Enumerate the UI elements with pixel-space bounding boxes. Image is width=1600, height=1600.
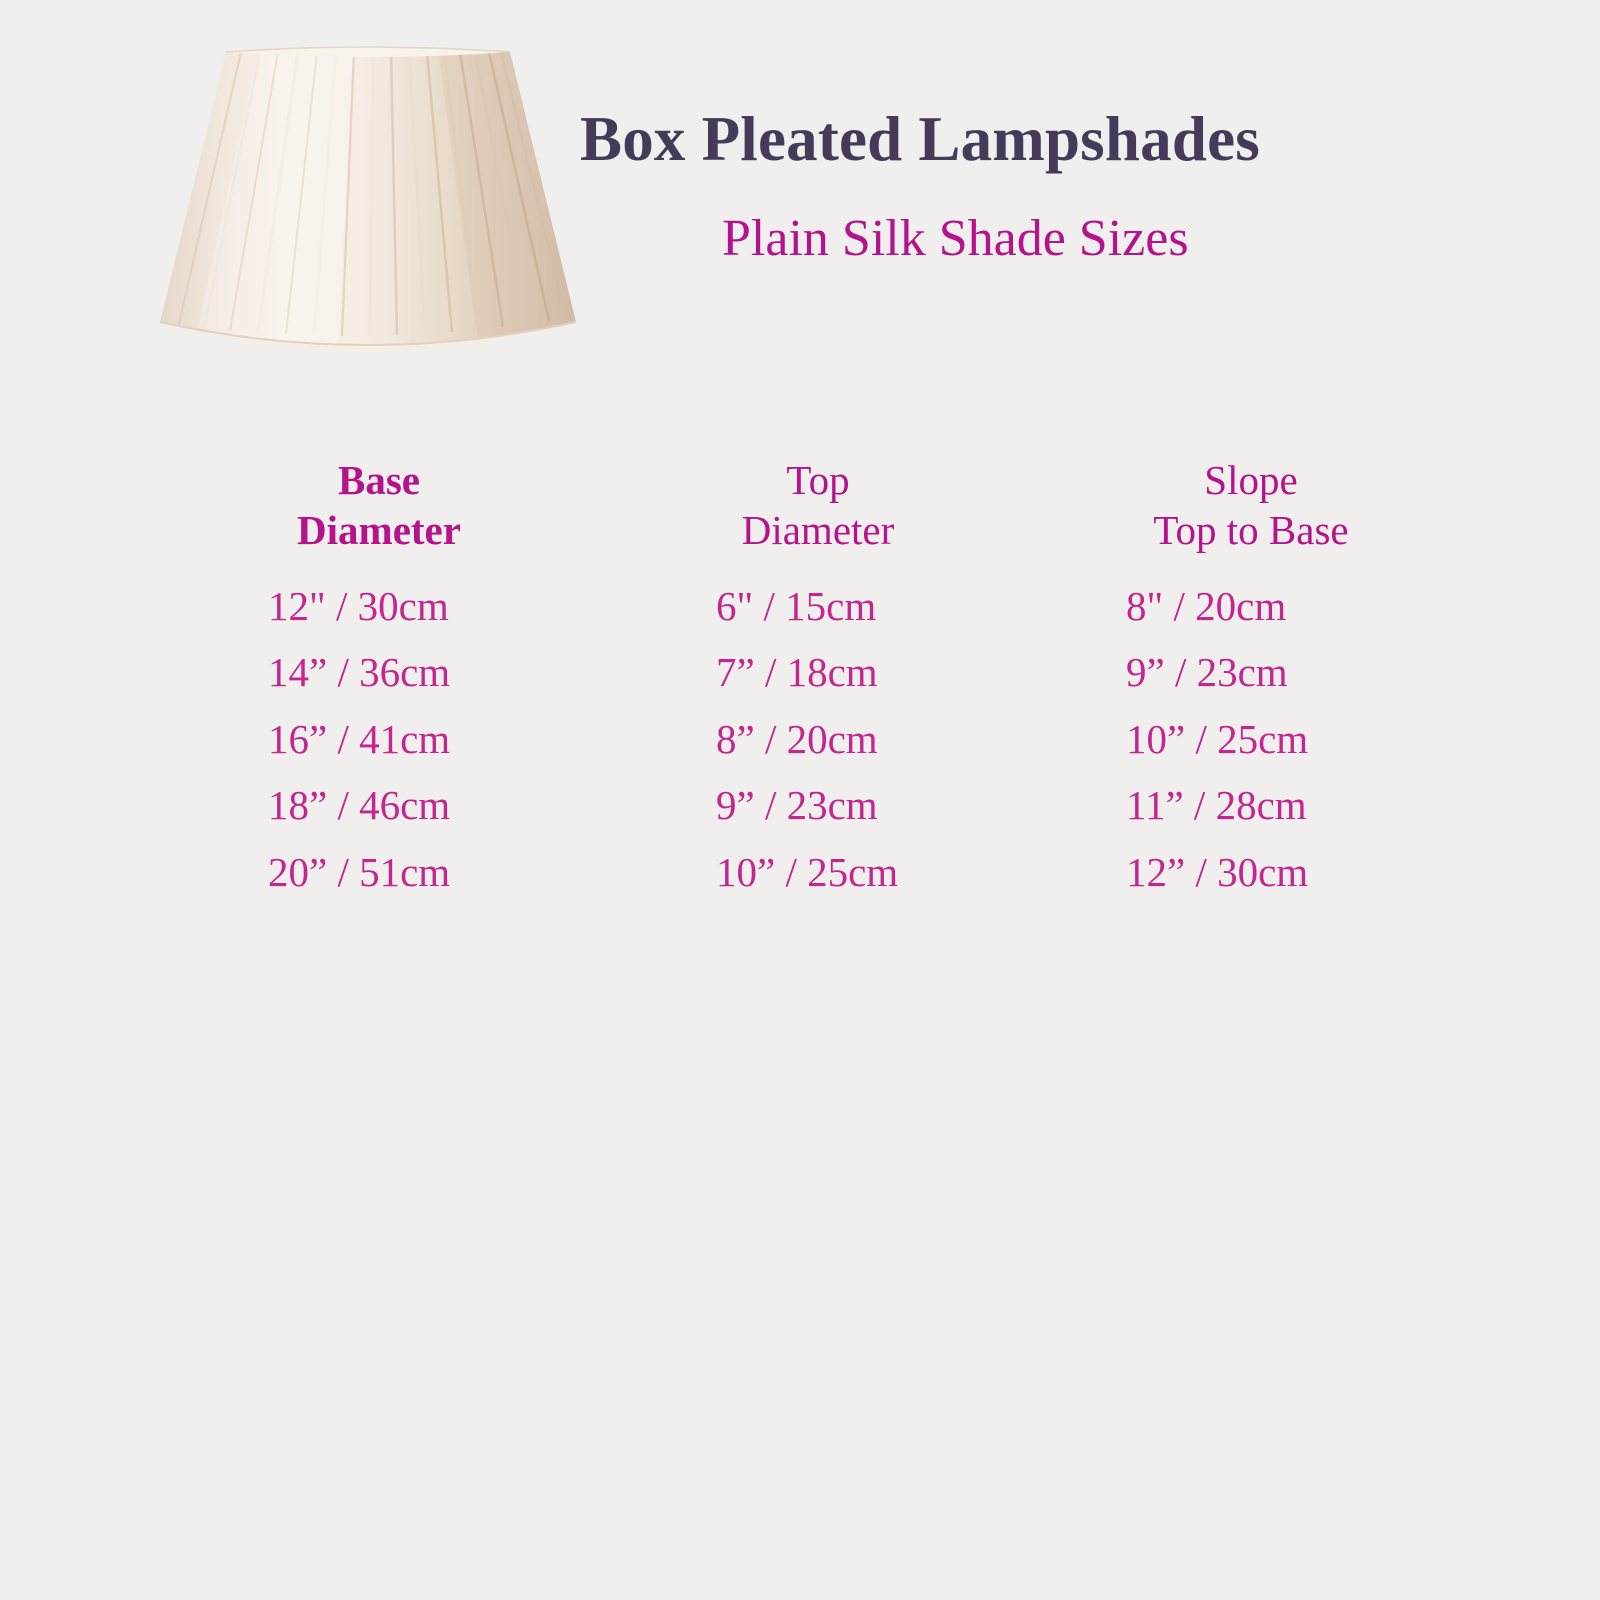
size-table: Base Diameter 12" / 30cm 14” / 36cm 16” … — [0, 455, 1600, 905]
column-base-diameter: Base Diameter 12" / 30cm 14” / 36cm 16” … — [262, 455, 682, 905]
table-cell: 8” / 20cm — [692, 706, 1092, 772]
column-top-diameter: Top Diameter 6" / 15cm 7” / 18cm 8” / 20… — [692, 455, 1092, 905]
column-header-base-diameter: Base Diameter — [262, 455, 682, 555]
lampshade-illustration — [138, 22, 598, 372]
column-header-slope: Slope Top to Base — [1100, 455, 1520, 555]
header-line-1: Base — [262, 455, 496, 505]
header-line-2: Diameter — [692, 505, 944, 555]
column-values-top-diameter: 6" / 15cm 7” / 18cm 8” / 20cm 9” / 23cm … — [692, 573, 1092, 905]
table-cell: 12” / 30cm — [1100, 839, 1520, 905]
table-cell: 8" / 20cm — [1100, 573, 1520, 639]
column-slope-top-to-base: Slope Top to Base 8" / 20cm 9” / 23cm 10… — [1100, 455, 1520, 905]
column-values-slope: 8" / 20cm 9” / 23cm 10” / 25cm 11” / 28c… — [1100, 573, 1520, 905]
column-header-top-diameter: Top Diameter — [692, 455, 1092, 555]
table-cell: 12" / 30cm — [262, 573, 682, 639]
table-cell: 7” / 18cm — [692, 639, 1092, 705]
column-values-base-diameter: 12" / 30cm 14” / 36cm 16” / 41cm 18” / 4… — [262, 573, 682, 905]
table-cell: 16” / 41cm — [262, 706, 682, 772]
title-block: Box Pleated Lampshades Plain Silk Shade … — [580, 106, 1580, 267]
header-line-1: Top — [692, 455, 944, 505]
table-cell: 20” / 51cm — [262, 839, 682, 905]
page-root: Box Pleated Lampshades Plain Silk Shade … — [0, 0, 1600, 1600]
lampshade-image — [138, 22, 598, 372]
table-cell: 10” / 25cm — [692, 839, 1092, 905]
size-table-columns: Base Diameter 12" / 30cm 14” / 36cm 16” … — [0, 455, 1600, 905]
header-line-1: Slope — [1100, 455, 1402, 505]
table-cell: 9” / 23cm — [692, 772, 1092, 838]
shade-body — [160, 52, 576, 352]
table-cell: 18” / 46cm — [262, 772, 682, 838]
table-cell: 11” / 28cm — [1100, 772, 1520, 838]
header-line-2: Top to Base — [1100, 505, 1402, 555]
table-cell: 6" / 15cm — [692, 573, 1092, 639]
page-title: Box Pleated Lampshades — [580, 106, 1580, 172]
page-subtitle: Plain Silk Shade Sizes — [722, 212, 1580, 267]
header-line-2: Diameter — [262, 505, 496, 555]
table-cell: 9” / 23cm — [1100, 639, 1520, 705]
table-cell: 10” / 25cm — [1100, 706, 1520, 772]
table-cell: 14” / 36cm — [262, 639, 682, 705]
